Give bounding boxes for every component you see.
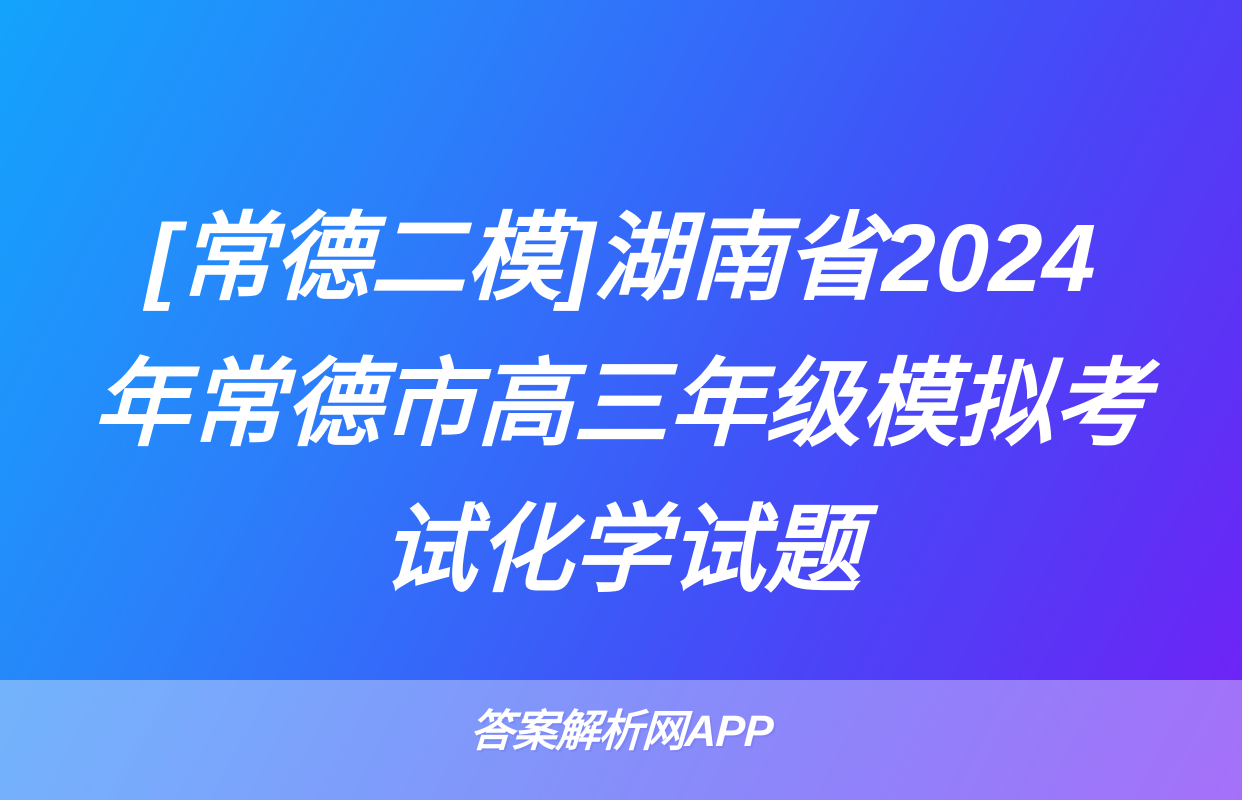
page-title: [常德二模]湖南省2024 年常德市高三年级模拟考 试化学试题	[0, 186, 1242, 624]
watermark-label: 答案解析网APP	[468, 706, 773, 758]
watermark: 答案解析网APP	[0, 706, 1242, 758]
title-card: [常德二模]湖南省2024 年常德市高三年级模拟考 试化学试题 答案解析网APP	[0, 0, 1242, 800]
title-line-3: 试化学试题	[39, 478, 1204, 624]
title-line-2: 年常德市高三年级模拟考	[39, 332, 1204, 478]
title-line-1: [常德二模]湖南省2024	[39, 186, 1204, 332]
